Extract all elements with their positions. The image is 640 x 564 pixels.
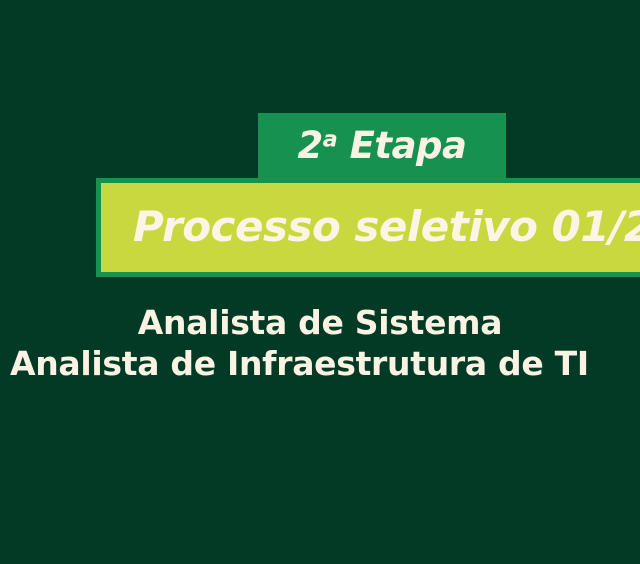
role-line-2: Analista de Infraestrutura de TI (0, 343, 640, 384)
stage-word: Etapa (350, 124, 467, 167)
process-banner: Processo seletivo 01/2026 (96, 178, 640, 277)
stage-ordinal-suffix: a (323, 126, 337, 152)
process-banner-label: Processo seletivo 01/2026 (101, 206, 640, 248)
role-list: Analista de Sistema Analista de Infraest… (0, 302, 640, 384)
stage-badge: 2a Etapa (258, 113, 506, 180)
role-line-1: Analista de Sistema (0, 302, 640, 343)
poster-canvas: 2a Etapa Processo seletivo 01/2026 Anali… (0, 0, 640, 564)
stage-number: 2 (297, 124, 322, 167)
stage-badge-label: 2a Etapa (297, 127, 466, 164)
